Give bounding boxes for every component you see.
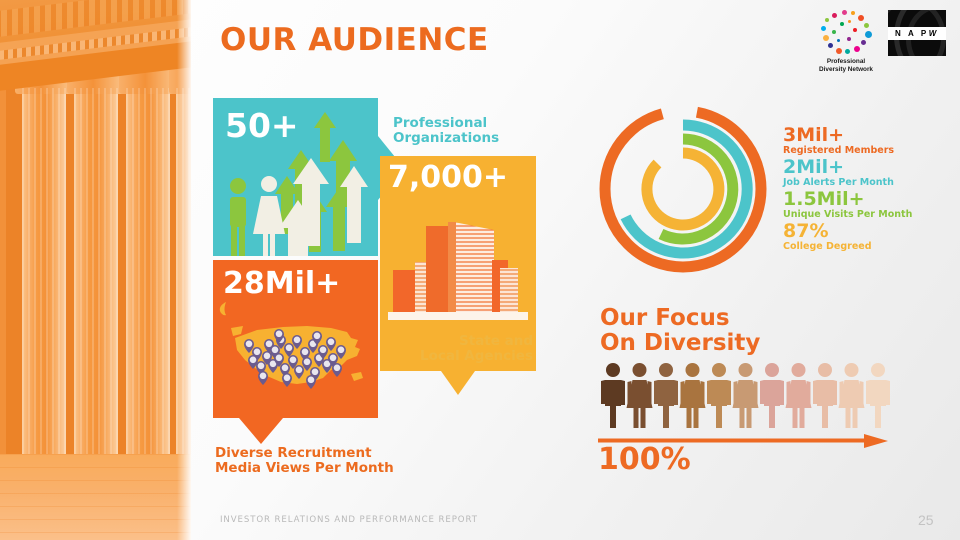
us-map-with-pins-icon [227, 316, 367, 396]
napw-logo: N A P W [888, 10, 946, 56]
audience-donut-chart [597, 103, 769, 275]
pdn-line2: Diversity Network [819, 66, 873, 74]
stat-item: 3Mil+ Registered Members [783, 125, 953, 156]
diversity-title-line1: Our Focus [600, 306, 760, 331]
logo-area: Professional Diversity Network N A P W [814, 10, 946, 74]
people-and-arrows-icon [213, 98, 378, 256]
male-figure [654, 363, 678, 428]
agencies-value: 7,000+ [388, 160, 508, 195]
organizations-label-line2: Organizations [393, 131, 499, 146]
agencies-label-line1: State and [353, 334, 533, 349]
diversity-percent: 100% [598, 442, 691, 477]
stat-item: 2Mil+ Job Alerts Per Month [783, 157, 953, 188]
media-views-label-line1: Diverse Recruitment [215, 446, 394, 461]
stat-value: 87% [783, 221, 953, 241]
male-figure [760, 363, 784, 428]
courthouse-photo-strip [0, 0, 191, 540]
column [126, 88, 170, 472]
pdn-dot-ring-icon [820, 10, 872, 56]
stat-label: Registered Members [783, 145, 953, 156]
organizations-label-line1: Professional [393, 116, 499, 131]
diversity-title: Our Focus On Diversity [600, 306, 760, 356]
male-figure [707, 363, 731, 428]
donut-ring-yellow [647, 153, 719, 225]
agencies-label: State and Local Agencies [353, 334, 533, 364]
media-views-value: 28Mil+ [223, 266, 340, 301]
photo-edge-fade [177, 0, 191, 540]
stat-label: Job Alerts Per Month [783, 177, 953, 188]
stat-value: 3Mil+ [783, 125, 953, 145]
page-title: OUR AUDIENCE [220, 22, 489, 58]
napw-nap: N A P [895, 29, 929, 38]
agencies-label-line2: Local Agencies [353, 349, 533, 364]
buildings-icon [388, 208, 528, 328]
media-views-label-line2: Media Views Per Month [215, 461, 394, 476]
female-figure [839, 363, 865, 428]
diversity-title-line2: On Diversity [600, 331, 760, 356]
yellow-panel-tail [441, 371, 475, 395]
diverse-people-row-icon [598, 362, 894, 430]
column [22, 88, 66, 472]
map-marker-accent-icon [219, 302, 233, 316]
male-figure [866, 363, 890, 428]
page-number: 25 [918, 512, 934, 528]
female-figure [680, 363, 706, 428]
organizations-panel: 50+ [213, 98, 378, 256]
stair-base [0, 454, 191, 540]
male-figure [601, 363, 625, 428]
female-figure [733, 363, 759, 428]
pdn-line1: Professional [819, 58, 873, 66]
stat-item: 87% College Degreed [783, 221, 953, 252]
slide-canvas: OUR AUDIENCE [0, 0, 960, 540]
female-figure [627, 363, 653, 428]
stat-item: 1.5Mil+ Unique Visits Per Month [783, 189, 953, 220]
organizations-label: Professional Organizations [393, 116, 499, 146]
column [74, 88, 118, 472]
orange-panel-tail [239, 418, 283, 444]
female-figure [786, 363, 812, 428]
male-figure-green [230, 178, 246, 256]
footer-label: INVESTOR RELATIONS AND PERFORMANCE REPOR… [220, 515, 478, 525]
pdn-logo-text: Professional Diversity Network [819, 58, 873, 74]
male-figure [813, 363, 837, 428]
napw-letters: N A P W [888, 27, 946, 40]
stat-label: College Degreed [783, 241, 953, 252]
professional-diversity-network-logo: Professional Diversity Network [814, 10, 878, 74]
audience-stats-list: 3Mil+ Registered Members 2Mil+ Job Alert… [783, 125, 953, 253]
stat-value: 2Mil+ [783, 157, 953, 177]
stat-value: 1.5Mil+ [783, 189, 953, 209]
audience-infographic: 50+ [213, 98, 558, 488]
napw-w: W [929, 29, 939, 38]
stat-label: Unique Visits Per Month [783, 209, 953, 220]
media-views-label: Diverse Recruitment Media Views Per Mont… [215, 446, 394, 476]
